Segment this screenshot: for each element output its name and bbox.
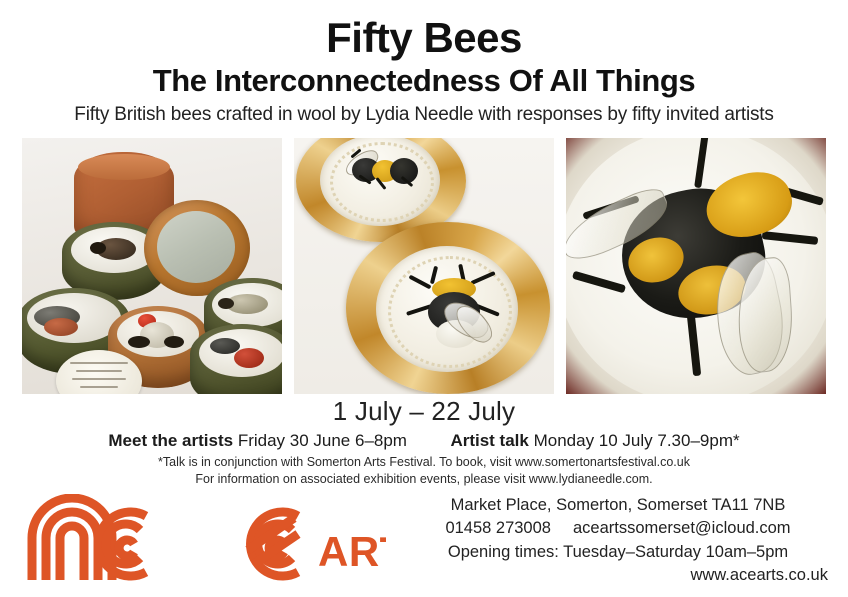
- poster-canvas: Fifty Bees The Interconnectedness Of All…: [0, 0, 848, 597]
- event-label: Meet the artists: [108, 431, 233, 450]
- contact-opening-times: Opening times: Tuesday–Saturday 10am–5pm: [408, 541, 828, 564]
- footnote-line: *Talk is in conjunction with Somerton Ar…: [0, 454, 848, 471]
- contact-email[interactable]: aceartssomerset@icloud.com: [573, 519, 791, 537]
- dates-block: 1 July – 22 July Meet the artists Friday…: [0, 396, 848, 487]
- felted-bumblebee: [402, 262, 510, 354]
- poster-header: Fifty Bees The Interconnectedness Of All…: [0, 0, 848, 127]
- exhibition-date-range: 1 July – 22 July: [0, 396, 848, 427]
- event-artist-talk: Artist talk Monday 10 July 7.30–9pm*: [450, 431, 739, 451]
- contact-block: Market Place, Somerton, Somerset TA11 7N…: [408, 494, 828, 588]
- footer-block: ARTS Market Place, Somerton, Somerset TA…: [0, 488, 848, 597]
- photo-gold-compacts: [294, 138, 554, 394]
- photo-macro-felted-bee: [566, 138, 826, 394]
- contact-address: Market Place, Somerton, Somerset TA11 7N…: [408, 494, 828, 517]
- page-title: Fifty Bees: [0, 16, 848, 60]
- photo-vintage-tins: [22, 138, 282, 394]
- footnote-line: For information on associated exhibition…: [0, 471, 848, 488]
- footnotes-block: *Talk is in conjunction with Somerton Ar…: [0, 454, 848, 487]
- photo-strip: [22, 138, 828, 394]
- acearts-logo-mark: ARTS: [26, 494, 386, 586]
- events-row: Meet the artists Friday 30 June 6–8pm Ar…: [0, 431, 848, 451]
- gold-compact-open: [346, 222, 550, 394]
- page-subtitle: The Interconnectedness Of All Things: [0, 64, 848, 99]
- contact-phone[interactable]: 01458 273008: [445, 519, 551, 537]
- event-meet-the-artists: Meet the artists Friday 30 June 6–8pm: [108, 431, 407, 451]
- page-tagline: Fifty British bees crafted in wool by Ly…: [0, 104, 848, 127]
- contact-phone-email-row: 01458 273008aceartssomerset@icloud.com: [408, 517, 828, 540]
- logo-wordmark: ARTS: [318, 528, 386, 575]
- felted-bumblebee: [348, 148, 424, 204]
- specimen-tin: [190, 324, 282, 394]
- acearts-logo[interactable]: ARTS: [26, 494, 386, 586]
- contact-website[interactable]: www.acearts.co.uk: [408, 564, 828, 587]
- event-detail: Friday 30 June 6–8pm: [238, 431, 407, 450]
- event-detail: Monday 10 July 7.30–9pm*: [534, 431, 740, 450]
- event-label: Artist talk: [450, 431, 528, 450]
